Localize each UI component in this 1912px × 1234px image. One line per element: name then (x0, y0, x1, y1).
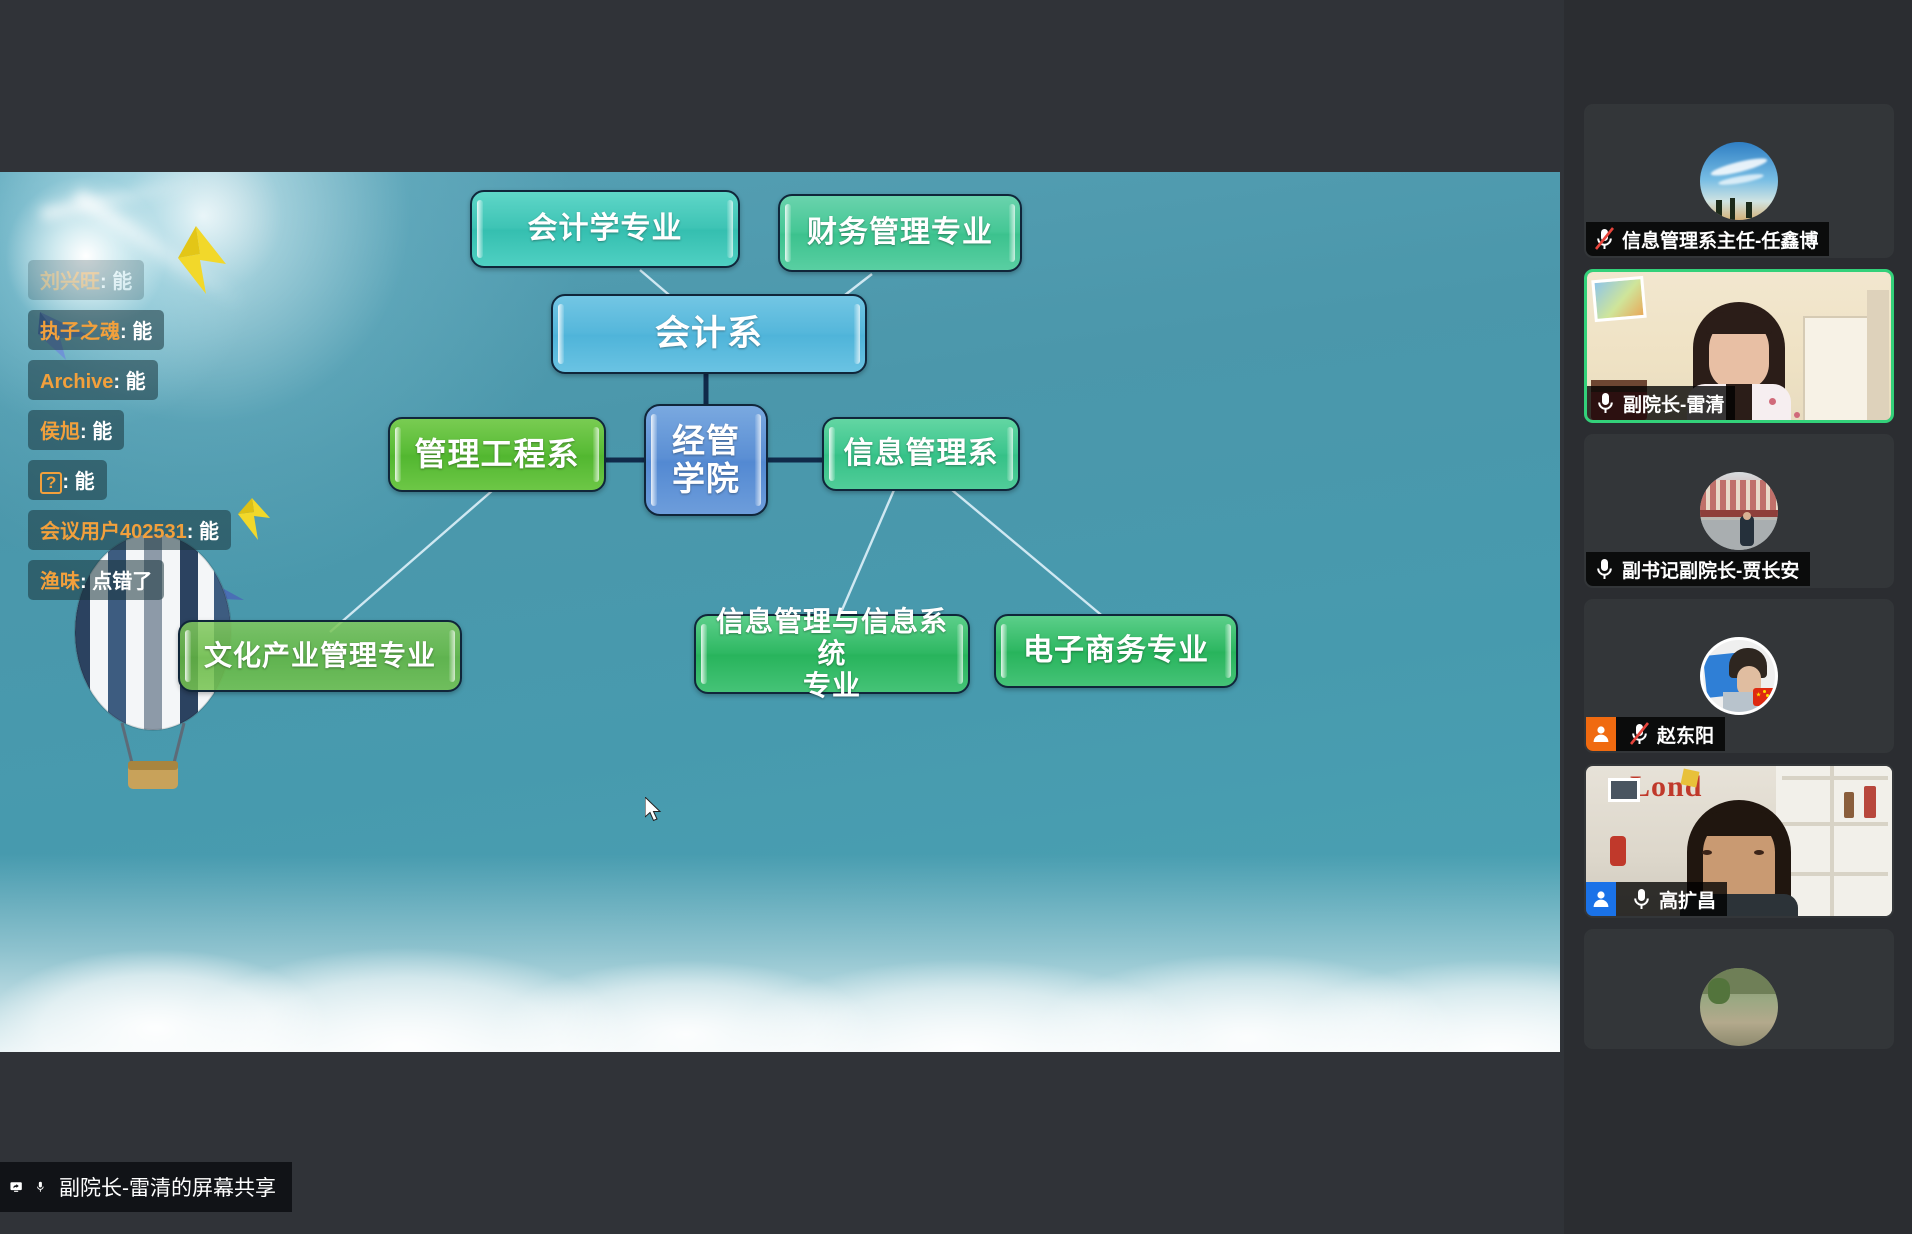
chat-colon: : (80, 421, 92, 443)
node-accounting-dept[interactable]: 会计系 (551, 294, 867, 374)
meeting-window: 会计学专业 财务管理专业 会计系 经管 学院 管理工程系 信息管理系 文化产业管… (0, 0, 1912, 1234)
node-ecommerce-major[interactable]: 电子商务专业 (994, 614, 1238, 688)
node-label: 信息管理系 (844, 437, 999, 472)
participant-nameplate: 信息管理系主任-任鑫博 (1586, 222, 1829, 256)
person-icon (1592, 890, 1610, 908)
country-flag-badge (1753, 688, 1777, 706)
chat-sender: Archive (40, 371, 113, 393)
chat-colon: : (113, 371, 125, 393)
participant-nameplate: 赵东阳 (1586, 717, 1725, 751)
chat-colon: : (100, 271, 112, 293)
mouse-cursor (645, 797, 665, 824)
microphone-icon (1594, 557, 1615, 581)
edge-info-mgmt-to-ecommerce (952, 490, 1112, 624)
cohost-badge (1586, 882, 1616, 916)
chat-text: 能 (199, 521, 219, 543)
shared-slide-canvas[interactable]: 会计学专业 财务管理专业 会计系 经管 学院 管理工程系 信息管理系 文化产业管… (0, 172, 1560, 1052)
chat-text: 点错了 (92, 571, 152, 593)
chat-message: 渔味: 点错了 (28, 560, 164, 600)
chat-sender: 执子之魂 (40, 321, 120, 343)
chat-message: 会议用户402531: 能 (28, 510, 231, 550)
chat-text: 能 (126, 371, 146, 393)
chat-message-overlay: 刘兴旺: 能 执子之魂: 能 Archive: 能 侯旭: 能 ?: 能 会议用… (28, 260, 231, 600)
node-label: 经管 学院 (672, 422, 740, 498)
node-label: 财务管理专业 (807, 216, 993, 251)
chat-colon: : (62, 471, 74, 493)
node-label: 管理工程系 (414, 436, 579, 473)
origami-bird-decoration (232, 496, 272, 548)
participant-tile[interactable]: 副书记副院长-贾长安 (1584, 434, 1894, 588)
participant-name: 信息管理系主任-任鑫博 (1622, 226, 1818, 253)
participant-name: 副院长-雷清 (1623, 390, 1724, 417)
node-label: 会计学专业 (528, 212, 683, 247)
edge-mgmt-eng-to-culture (330, 490, 493, 632)
chat-colon: : (80, 571, 92, 593)
microphone-icon (1631, 887, 1652, 911)
chat-message: 侯旭: 能 (28, 410, 124, 450)
chat-colon: : (187, 521, 199, 543)
chat-message: Archive: 能 (28, 360, 158, 400)
chat-message: 刘兴旺: 能 (28, 260, 144, 300)
participant-tile[interactable] (1584, 929, 1894, 1049)
chat-text: 能 (132, 321, 152, 343)
participant-name: 高扩昌 (1659, 886, 1716, 913)
screen-share-status-bar[interactable]: 副院长-雷清的屏幕共享 (0, 1162, 292, 1212)
microphone-icon (1595, 391, 1616, 415)
sun-ray-decoration (41, 175, 200, 220)
host-badge (1586, 717, 1616, 751)
node-culture-industry-major[interactable]: 文化产业管理专业 (178, 620, 462, 692)
node-info-mgmt-dept[interactable]: 信息管理系 (822, 417, 1020, 491)
chat-message: ?: 能 (28, 460, 107, 500)
avatar (1700, 142, 1778, 220)
participant-nameplate: 副书记副院长-贾长安 (1586, 552, 1810, 586)
chat-text: 能 (112, 271, 132, 293)
participant-nameplate: 高扩昌 (1586, 882, 1727, 916)
avatar (1700, 637, 1778, 715)
node-finance-major[interactable]: 财务管理专业 (778, 194, 1022, 272)
participant-tile[interactable]: 信息管理系主任-任鑫博 (1584, 104, 1894, 258)
chat-sender: 会议用户402531 (40, 521, 187, 543)
cloud-decoration (0, 752, 1560, 1052)
participant-tile[interactable]: Lond (1584, 764, 1894, 918)
participant-name: 副书记副院长-贾长安 (1622, 556, 1799, 583)
node-mis-major[interactable]: 信息管理与信息系统 专业 (694, 614, 970, 694)
edge-info-mgmt-to-mis (836, 490, 894, 624)
node-label: 信息管理与信息系统 专业 (710, 606, 954, 703)
person-icon (1592, 725, 1610, 743)
chat-sender: 渔味 (40, 571, 80, 593)
shared-screen-region[interactable]: 会计学专业 财务管理专业 会计系 经管 学院 管理工程系 信息管理系 文化产业管… (0, 0, 1564, 1234)
avatar (1700, 472, 1778, 550)
participant-nameplate: 副院长-雷清 (1587, 386, 1735, 420)
microphone-icon (36, 1173, 45, 1201)
chat-sender: 侯旭 (40, 421, 80, 443)
participant-tile[interactable]: 赵东阳 (1584, 599, 1894, 753)
node-label: 电子商务专业 (1023, 634, 1209, 669)
chat-text: 能 (75, 471, 95, 493)
participant-tile[interactable]: 副院长-雷清 (1584, 269, 1894, 423)
microphone-muted-icon (1629, 722, 1650, 746)
chat-colon: : (120, 321, 132, 343)
participant-name: 赵东阳 (1657, 721, 1714, 748)
screen-share-label: 副院长-雷清的屏幕共享 (59, 1172, 276, 1202)
microphone-muted-icon (1594, 227, 1615, 251)
node-label: 会计系 (655, 314, 763, 354)
screen-share-icon (10, 1175, 22, 1199)
chat-sender: 刘兴旺 (40, 271, 100, 293)
chat-text: 能 (92, 421, 112, 443)
node-label: 文化产业管理专业 (204, 640, 436, 672)
node-accounting-major[interactable]: 会计学专业 (470, 190, 740, 268)
node-root-school[interactable]: 经管 学院 (644, 404, 768, 516)
chat-sender: ? (40, 472, 62, 494)
avatar (1700, 968, 1778, 1046)
participant-video-strip[interactable]: 信息管理系主任-任鑫博 (1564, 0, 1912, 1234)
node-mgmt-eng-dept[interactable]: 管理工程系 (388, 417, 606, 492)
chat-message: 执子之魂: 能 (28, 310, 164, 350)
